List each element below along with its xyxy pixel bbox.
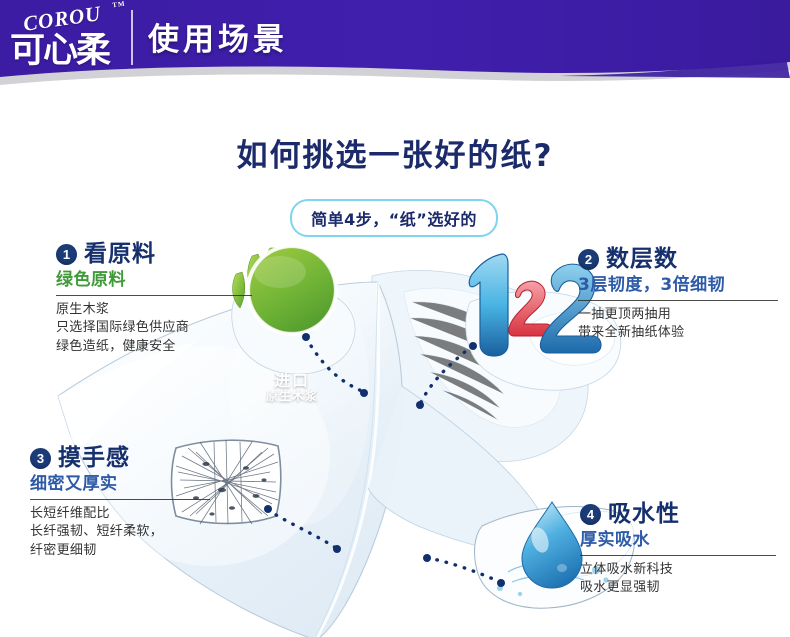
feature-3-body-line-2: 长纤强韧、短纤柔软， bbox=[30, 523, 210, 542]
feature-2-title: 数层数 bbox=[606, 248, 678, 271]
feature-4-header: 4 吸水性 bbox=[580, 503, 776, 526]
feature-1-body: 原生木浆 只选择国际绿色供应商 绿色造纸，健康安全 bbox=[56, 301, 252, 358]
feature-1-header: 1 看原料 bbox=[56, 243, 252, 266]
feature-4-rule bbox=[580, 555, 776, 556]
feature-2-body: 一抽更顶两抽用 带来全新抽纸体验 bbox=[578, 306, 778, 344]
feature-4-number-badge: 4 bbox=[580, 504, 601, 525]
feature-1-rule bbox=[56, 295, 252, 296]
feature-3-body: 长短纤维配比 长纤强韧、短纤柔软， 纤密更细韧 bbox=[30, 505, 210, 562]
feature-2-number-badge: 2 bbox=[578, 249, 599, 270]
feature-3-body-line-3: 纤密更细韧 bbox=[30, 542, 210, 561]
feature-block-2: 2 数层数 3层韧度，3倍细韧 一抽更顶两抽用 带来全新抽纸体验 bbox=[578, 248, 778, 343]
page-root: COROUTM 可心柔 使用场景 如何挑选一张好的纸? 简单4步，“纸”选好的 bbox=[0, 0, 790, 637]
feature-3-body-line-1: 长短纤维配比 bbox=[30, 505, 210, 524]
banner-divider bbox=[131, 10, 133, 65]
feature-4-body: 立体吸水新科技 吸水更显强韧 bbox=[580, 561, 776, 599]
feature-1-subtitle: 绿色原料 bbox=[56, 271, 252, 291]
brand-logo: COROUTM 可心柔 bbox=[10, 5, 125, 73]
feature-1-body-line-2: 只选择国际绿色供应商 bbox=[56, 319, 252, 338]
feature-3-number-badge: 3 bbox=[30, 448, 51, 469]
feature-3-rule bbox=[30, 499, 210, 500]
feature-3-header: 3 摸手感 bbox=[30, 447, 210, 470]
header-banner: COROUTM 可心柔 使用场景 bbox=[0, 0, 790, 96]
brand-chinese-label: 可心柔 bbox=[10, 22, 128, 72]
feature-block-3: 3 摸手感 细密又厚实 长短纤维配比 长纤强韧、短纤柔软， 纤密更细韧 bbox=[30, 447, 210, 561]
feature-3-title: 摸手感 bbox=[58, 447, 130, 470]
feature-2-rule bbox=[578, 300, 778, 301]
feature-4-body-line-2: 吸水更显强韧 bbox=[580, 579, 776, 598]
feature-3-subtitle: 细密又厚实 bbox=[30, 475, 210, 495]
feature-4-subtitle: 厚实吸水 bbox=[580, 531, 776, 551]
feature-2-header: 2 数层数 bbox=[578, 248, 778, 271]
feature-4-title: 吸水性 bbox=[608, 503, 680, 526]
trademark-icon: TM bbox=[112, 0, 126, 9]
feature-block-1: 1 看原料 绿色原料 原生木浆 只选择国际绿色供应商 绿色造纸，健康安全 bbox=[56, 243, 252, 357]
feature-1-body-line-1: 原生木浆 bbox=[56, 301, 252, 320]
feature-1-number-badge: 1 bbox=[56, 244, 77, 265]
feature-2-body-line-1: 一抽更顶两抽用 bbox=[578, 306, 778, 325]
feature-2-body-line-2: 带来全新抽纸体验 bbox=[578, 324, 778, 343]
feature-1-title: 看原料 bbox=[84, 243, 156, 266]
banner-title: 使用场景 bbox=[148, 14, 288, 59]
feature-1-body-line-3: 绿色造纸，健康安全 bbox=[56, 338, 252, 357]
feature-2-subtitle: 3层韧度，3倍细韧 bbox=[578, 276, 778, 296]
feature-block-4: 4 吸水性 厚实吸水 立体吸水新科技 吸水更显强韧 bbox=[580, 503, 776, 598]
feature-4-body-line-1: 立体吸水新科技 bbox=[580, 561, 776, 580]
